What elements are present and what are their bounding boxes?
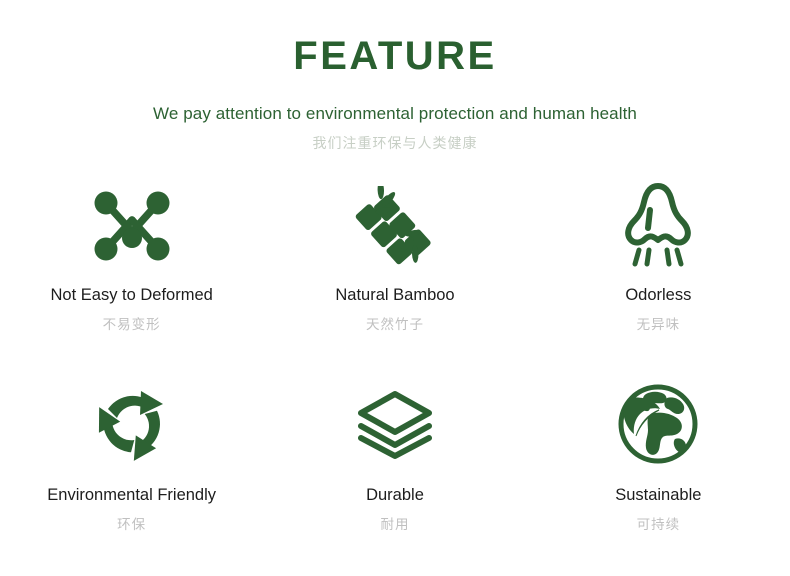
feature-item-odorless: Odorless 无异味 bbox=[527, 170, 790, 366]
layers-stack-icon bbox=[353, 372, 437, 476]
feature-item-environmental-friendly: Environmental Friendly 环保 bbox=[0, 366, 263, 562]
section-header: FEATURE We pay attention to environmenta… bbox=[0, 0, 790, 152]
feature-label-chinese: 可持续 bbox=[637, 517, 681, 533]
feature-label-english: Not Easy to Deformed bbox=[51, 286, 213, 306]
feature-item-not-easy-to-deformed: Not Easy to Deformed 不易变形 bbox=[0, 170, 263, 366]
feature-label-chinese: 耐用 bbox=[380, 517, 409, 533]
recycle-icon bbox=[89, 372, 175, 476]
feature-label-english: Natural Bamboo bbox=[335, 286, 454, 306]
globe-leaf-icon bbox=[615, 372, 701, 476]
nose-icon bbox=[620, 176, 696, 276]
feature-item-sustainable: Sustainable 可持续 bbox=[527, 366, 790, 562]
feature-grid: Not Easy to Deformed 不易变形 bbox=[0, 170, 790, 562]
feature-label-english: Sustainable bbox=[615, 486, 701, 506]
bamboo-icon bbox=[355, 176, 435, 276]
feature-label-chinese: 不易变形 bbox=[103, 317, 161, 333]
feature-item-natural-bamboo: Natural Bamboo 天然竹子 bbox=[263, 170, 526, 366]
feature-label-chinese: 天然竹子 bbox=[366, 317, 424, 333]
lattice-nodes-icon bbox=[92, 176, 172, 276]
subtitle-english: We pay attention to environmental protec… bbox=[0, 104, 790, 124]
feature-item-durable: Durable 耐用 bbox=[263, 366, 526, 562]
feature-label-chinese: 无异味 bbox=[637, 317, 681, 333]
feature-section: FEATURE We pay attention to environmenta… bbox=[0, 0, 790, 576]
feature-label-english: Environmental Friendly bbox=[47, 486, 216, 506]
subtitle-chinese: 我们注重环保与人类健康 bbox=[0, 135, 790, 152]
feature-label-english: Odorless bbox=[625, 286, 691, 306]
feature-label-chinese: 环保 bbox=[117, 517, 146, 533]
page-title: FEATURE bbox=[0, 34, 790, 78]
feature-label-english: Durable bbox=[366, 486, 424, 506]
